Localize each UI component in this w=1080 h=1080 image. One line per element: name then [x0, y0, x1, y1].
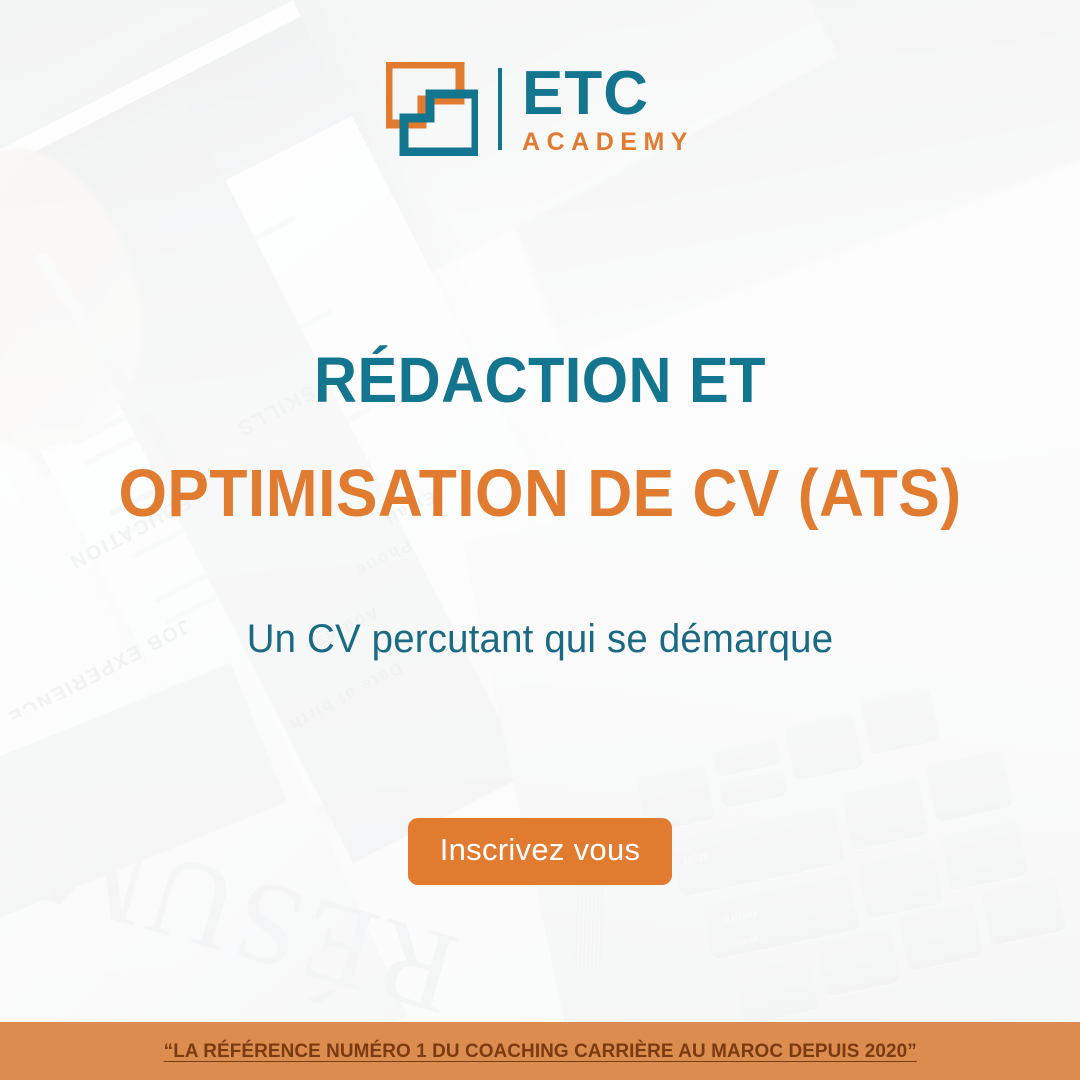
logo-divider [498, 68, 502, 150]
etc-logo-mark [386, 62, 478, 156]
headline-line-1: RÉDACTION ET [38, 348, 1042, 412]
brand-logo: ETC ACADEMY [0, 62, 1080, 156]
logo-tagline-text: ACADEMY [522, 130, 694, 155]
promo-poster: SKILLS EDUCATION JOB EXPERIENCE PROFILE … [0, 0, 1080, 1080]
subtitle-text: Un CV percutant qui se démarque [22, 617, 1059, 662]
bottom-banner: “LA RÉFÉRENCE NUMÉRO 1 DU COACHING CARRI… [0, 1022, 1080, 1080]
banner-tagline-text: “LA RÉFÉRENCE NUMÉRO 1 DU COACHING CARRI… [163, 1040, 916, 1063]
logo-wordmark: ETC ACADEMY [522, 63, 694, 155]
headline-block: RÉDACTION ET OPTIMISATION DE CV (ATS) [0, 348, 1080, 527]
background-whitening-veil [0, 0, 1080, 1080]
signup-button[interactable]: Inscrivez vous [408, 818, 673, 885]
logo-brand-text: ETC [522, 63, 694, 125]
background-photo: SKILLS EDUCATION JOB EXPERIENCE PROFILE … [0, 0, 1080, 1080]
headline-line-2: OPTIMISATION DE CV (ATS) [38, 460, 1042, 527]
cta-container: Inscrivez vous [0, 818, 1080, 885]
